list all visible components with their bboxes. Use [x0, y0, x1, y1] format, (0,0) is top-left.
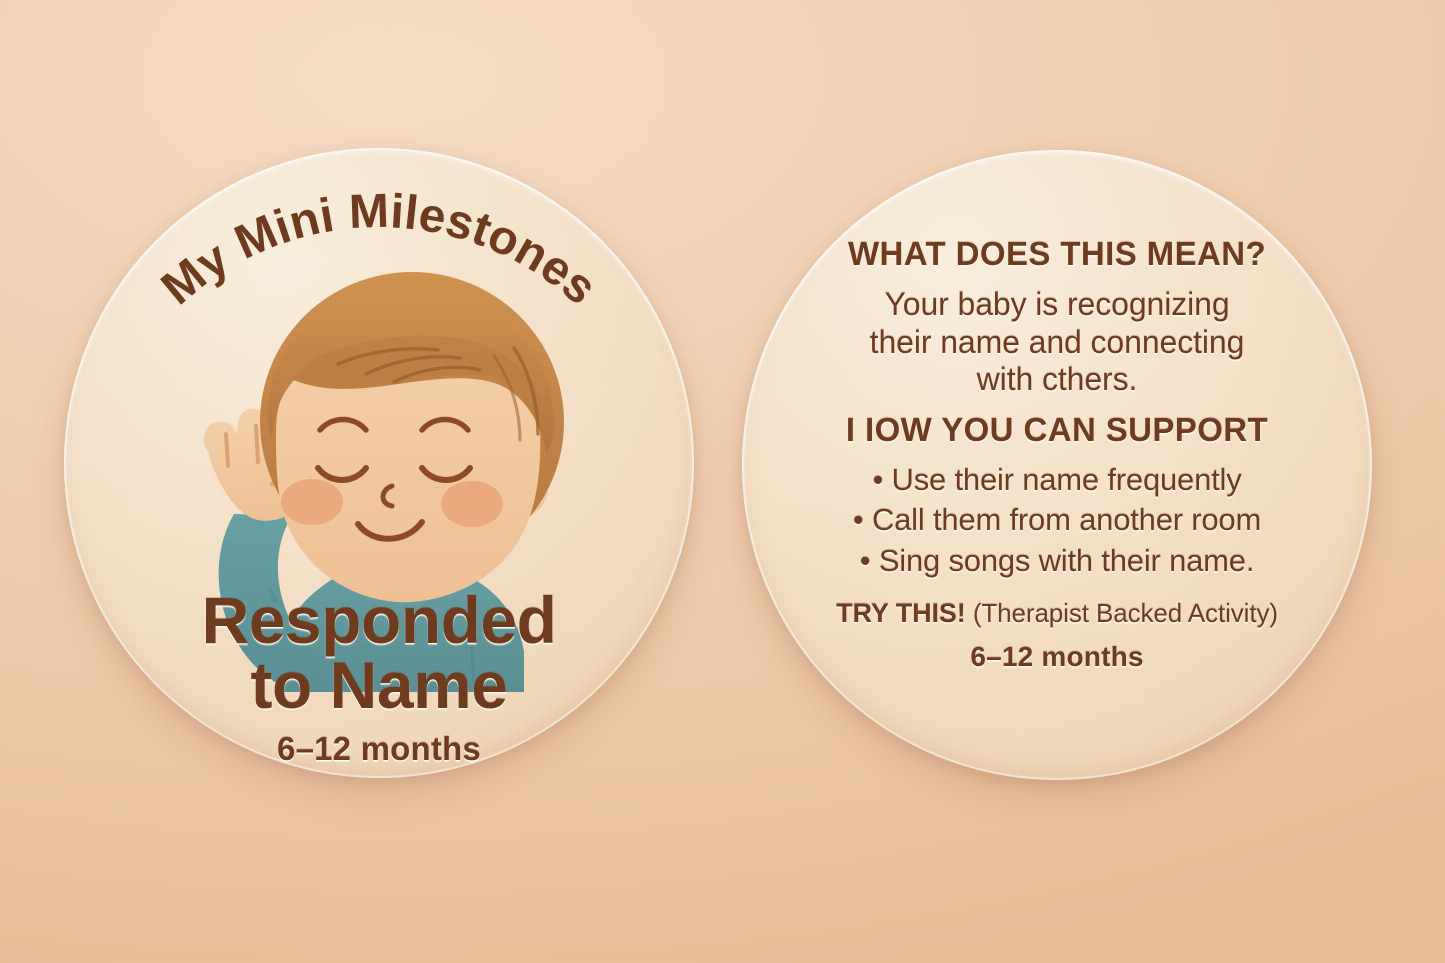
try-this-note: (Therapist Backed Activity): [973, 598, 1278, 628]
try-this-label: TRY THIS!: [836, 598, 966, 628]
support-heading: I IOW YOU CAN SUPPORT: [780, 412, 1334, 449]
age-range-back: 6–12 months: [780, 641, 1334, 673]
cheek-left: [281, 479, 343, 525]
list-item: • Sing songs with their name.: [780, 541, 1334, 581]
card-back-content: WHAT DOES THIS MEAN? Your baby is recogn…: [780, 236, 1334, 673]
cheek-right: [441, 481, 503, 527]
meaning-heading: WHAT DOES THIS MEAN?: [780, 236, 1334, 273]
meaning-line-3: with cthers.: [780, 361, 1334, 399]
support-bullet-list: • Use their name frequently • Call them …: [780, 460, 1334, 581]
meaning-line-1: Your baby is recognizing: [780, 286, 1334, 324]
milestone-card-back[interactable]: WHAT DOES THIS MEAN? Your baby is recogn…: [742, 150, 1372, 780]
page-title: Responded to Name: [84, 588, 674, 717]
meaning-line-2: their name and connecting: [780, 324, 1334, 362]
headline-line-2: to Name: [84, 653, 674, 718]
milestone-card-front[interactable]: My Mini Milestones: [64, 148, 694, 778]
scene-background: My Mini Milestones: [0, 0, 1445, 963]
list-item: • Use their name frequently: [780, 460, 1334, 500]
headline-line-1: Responded: [84, 588, 674, 653]
age-range-front: 6–12 months: [84, 730, 674, 768]
list-item: • Call them from another room: [780, 500, 1334, 540]
try-this-line: TRY THIS! (Therapist Backed Activity): [780, 597, 1334, 629]
